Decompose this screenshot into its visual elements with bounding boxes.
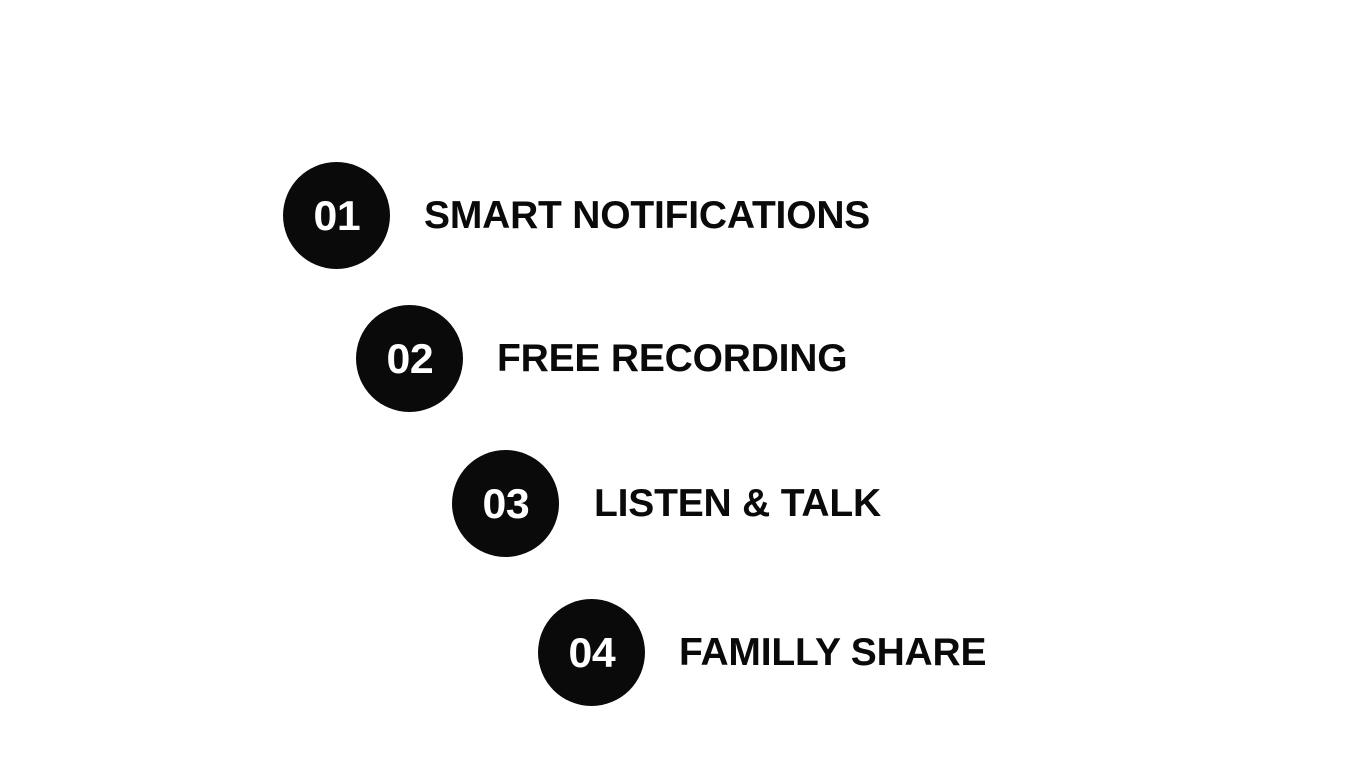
feature-label-free-recording: FREE RECORDING bbox=[497, 339, 847, 378]
feature-row[interactable]: 04 FAMILLY SHARE bbox=[538, 599, 986, 706]
feature-label-listen-and-talk: LISTEN & TALK bbox=[594, 484, 881, 523]
feature-row[interactable]: 03 LISTEN & TALK bbox=[452, 450, 881, 557]
slide-canvas: 01 SMART NOTIFICATIONS 02 FREE RECORDING… bbox=[0, 0, 1350, 759]
step-badge-02[interactable]: 02 bbox=[356, 305, 463, 412]
step-number-label: 03 bbox=[482, 483, 529, 525]
step-badge-03[interactable]: 03 bbox=[452, 450, 559, 557]
step-number-label: 04 bbox=[568, 632, 615, 674]
feature-label-smart-notifications: SMART NOTIFICATIONS bbox=[424, 196, 870, 235]
feature-row[interactable]: 02 FREE RECORDING bbox=[356, 305, 847, 412]
feature-row[interactable]: 01 SMART NOTIFICATIONS bbox=[283, 162, 870, 269]
step-number-label: 02 bbox=[386, 338, 433, 380]
feature-label-familly-share: FAMILLY SHARE bbox=[679, 633, 986, 672]
step-number-label: 01 bbox=[313, 195, 360, 237]
step-badge-04[interactable]: 04 bbox=[538, 599, 645, 706]
step-badge-01[interactable]: 01 bbox=[283, 162, 390, 269]
